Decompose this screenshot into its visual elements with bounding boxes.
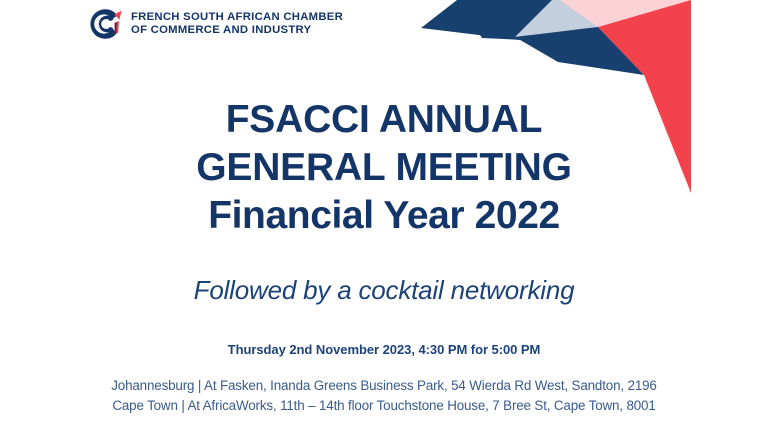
navy-upper-wedge	[457, 0, 560, 41]
venue-line-johannesburg: Johannesburg | At Fasken, Inanda Greens …	[0, 376, 768, 396]
brand-logo-line-2: OF COMMERCE AND INDUSTRY	[131, 24, 343, 37]
page-title: FSACCI ANNUAL GENERAL MEETING Financial …	[0, 96, 768, 240]
blue-gray-wedge	[531, 0, 599, 37]
venue-list: Johannesburg | At Fasken, Inanda Greens …	[0, 376, 768, 416]
navy-upper-wedge-body	[457, 0, 600, 43]
brand-logo: FRENCH SOUTH AFRICAN CHAMBER OF COMMERCE…	[88, 8, 343, 40]
navy-lower-wedge-b	[515, 27, 644, 75]
brand-logo-text: FRENCH SOUTH AFRICAN CHAMBER OF COMMERCE…	[131, 11, 343, 38]
fsacci-cci-monogram-icon	[88, 8, 122, 40]
headline-line-2: GENERAL MEETING	[0, 144, 768, 192]
navy-upper-band	[457, 0, 600, 27]
brand-logo-line-1: FRENCH SOUTH AFRICAN CHAMBER	[131, 11, 343, 24]
venue-line-cape-town: Cape Town | At AfricaWorks, 11th – 14th …	[0, 396, 768, 416]
subtitle: Followed by a cocktail networking	[0, 274, 768, 306]
headline-line-1: FSACCI ANNUAL	[0, 96, 768, 144]
pink-wedge	[560, 0, 691, 27]
navy-wedge-a	[421, 0, 599, 44]
headline-line-3: Financial Year 2022	[0, 192, 768, 240]
blue-gray-wedge-b	[515, 0, 598, 37]
navy-upper-main	[457, 0, 598, 40]
event-datetime: Thursday 2nd November 2023, 4:30 PM for …	[0, 342, 768, 357]
poster-canvas: FRENCH SOUTH AFRICAN CHAMBER OF COMMERCE…	[0, 0, 768, 432]
